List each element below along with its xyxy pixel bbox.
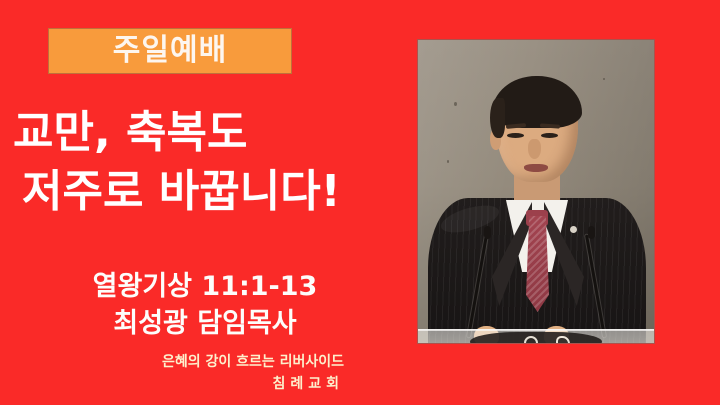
- sermon-title-line-1: 교만, 축복도: [0, 104, 410, 163]
- service-type-label: 주일예배: [113, 36, 227, 66]
- wall-speck: [603, 78, 605, 80]
- microphone-head-left: [484, 226, 491, 239]
- lapel-pin: [570, 226, 577, 233]
- sermon-title-line-2: 저주로 바꿉니다!: [0, 163, 410, 222]
- speaker-photo: [418, 40, 654, 343]
- sermon-title-slide: 주일예배 교만, 축복도 저주로 바꿉니다! 열왕기상 11:1-13 최성광 …: [0, 0, 720, 405]
- necktie: [526, 216, 549, 312]
- speaker-eye-right: [541, 133, 558, 138]
- church-name: 침례교회: [0, 374, 344, 396]
- church-identity: 은혜의 강이 흐르는 리버사이드 침례교회: [0, 352, 352, 395]
- wall-speck: [454, 102, 457, 106]
- wall-speck: [447, 160, 449, 163]
- speaker-mouth: [524, 164, 548, 172]
- speaker-nose: [528, 139, 541, 159]
- speaker-hair-side: [490, 98, 505, 138]
- reference-block: 열왕기상 11:1-13 최성광 담임목사: [0, 268, 410, 343]
- preacher-name: 최성광 담임목사: [0, 305, 410, 342]
- pulpit-ornament: [470, 332, 602, 343]
- scripture-reference: 열왕기상 11:1-13: [0, 268, 410, 305]
- speaker-eye-left: [507, 133, 524, 138]
- sermon-title: 교만, 축복도 저주로 바꿉니다!: [0, 104, 410, 221]
- microphone-head-right: [588, 226, 595, 239]
- church-tagline: 은혜의 강이 흐르는 리버사이드: [0, 352, 344, 374]
- service-type-badge: 주일예배: [48, 28, 292, 74]
